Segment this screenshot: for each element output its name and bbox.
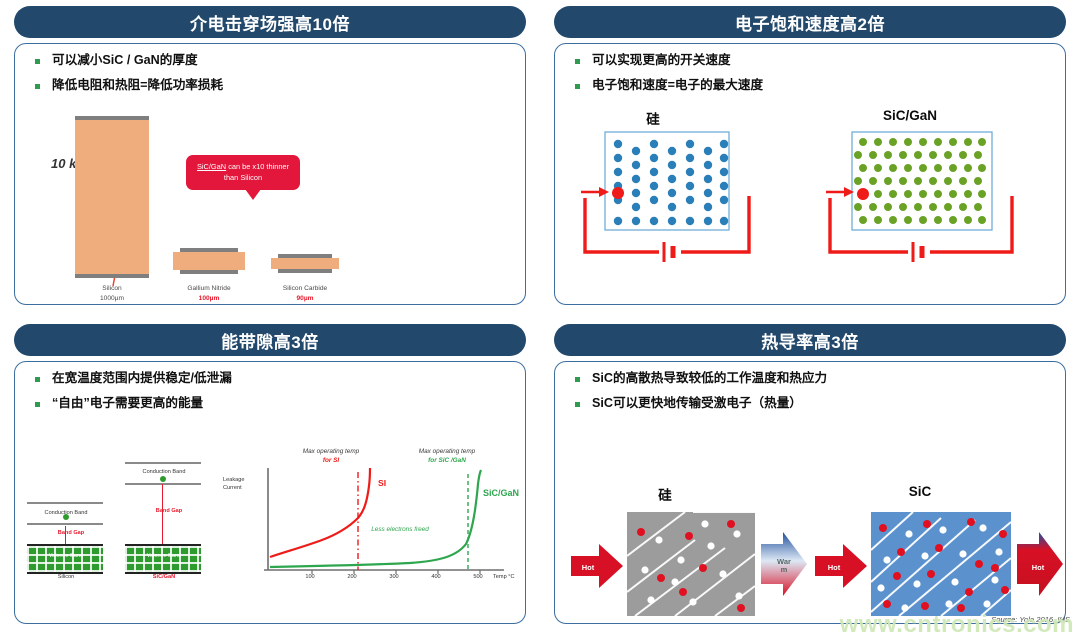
- bullet-item: 在宽温度范围内提供稳定/低泄漏: [31, 371, 525, 385]
- panel-thermal-conductivity: 热导率高3倍 SiC的高散热导致较低的工作温度和热应力 SiC可以更快地传输受激…: [540, 318, 1080, 637]
- material-name-label: SiC/GaN: [131, 574, 197, 580]
- bar-thickness: 90µm: [260, 294, 350, 304]
- bullet-text: 电子饱和速度=电子的最大速度: [592, 78, 763, 92]
- band-edge-line: [125, 462, 201, 464]
- chart-xlabel: Temp °C: [493, 574, 526, 580]
- chart-ylabel-line2: Current: [223, 485, 242, 491]
- bullet-item: SiC可以更快地传输受激电子（热量）: [571, 396, 1065, 410]
- bullet-marker-icon: [35, 377, 40, 382]
- figure-thickness-comparison: 10 kV Silicon 1000µm Gallium N: [15, 108, 525, 304]
- material-label-sicgan: SiC/GaN: [845, 108, 975, 123]
- valence-lattice: [125, 544, 201, 574]
- chart-ylabel-line1: Leakage: [223, 477, 244, 483]
- electrode-bottom-gan: [180, 270, 238, 274]
- valence-lattice: [27, 544, 103, 574]
- caption-gan: Gallium Nitride 100µm: [164, 284, 254, 304]
- heat-out-label-silicon: War m: [773, 558, 795, 574]
- annotation-less-electrons: Less electrons freed: [345, 526, 455, 535]
- annotation-line1: Max operating temp: [303, 448, 359, 455]
- bullet-marker-icon: [575, 402, 580, 407]
- bar-name: Gallium Nitride: [164, 284, 254, 294]
- panel-title-band-gap: 能带隙高3倍: [14, 324, 526, 356]
- bullet-text: 降低电阻和热阻=降低功率损耗: [52, 78, 223, 92]
- electron-dot-icon: [63, 514, 69, 520]
- bullet-marker-icon: [575, 59, 580, 64]
- bullet-marker-icon: [35, 59, 40, 64]
- bullet-list-electron-saturation: 可以实现更高的开关速度 电子饱和速度=电子的最大速度: [555, 44, 1065, 93]
- bar-sic: [271, 258, 339, 269]
- electrode-bottom-silicon: [75, 274, 149, 278]
- bullet-list-band-gap: 在宽温度范围内提供稳定/低泄漏 “自由”电子需要更高的能量: [15, 362, 525, 411]
- material-label-silicon: 硅: [605, 484, 725, 504]
- bar-gan: [173, 252, 245, 270]
- bullet-item: 电子饱和速度=电子的最大速度: [571, 78, 1065, 92]
- quadrant-grid: 介电击穿场强高10倍 可以减小SiC / GaN的厚度 降低电阻和热阻=降低功率…: [0, 0, 1080, 637]
- band-gap-label: Band Gap: [49, 530, 93, 536]
- electrode-bottom-sic: [278, 269, 332, 273]
- series-label-sicgan: SiC/GaN: [483, 488, 519, 498]
- caption-silicon: Silicon 1000µm: [67, 284, 157, 304]
- band-gap-label: Band Gap: [147, 508, 191, 514]
- bar-silicon: [75, 120, 149, 274]
- heat-in-label-sic: Hot: [819, 564, 849, 572]
- material-label-sic: SiC: [855, 484, 985, 499]
- annotation-line1: Max operating temp: [419, 448, 475, 455]
- panel-title-electron-saturation: 电子饱和速度高2倍: [554, 6, 1066, 38]
- bandgap-arrow: [162, 484, 163, 544]
- panel-electron-saturation-velocity: 电子饱和速度高2倍 可以实现更高的开关速度 电子饱和速度=电子的最大速度 硅 S…: [540, 0, 1080, 318]
- panel-breakdown-field: 介电击穿场强高10倍 可以减小SiC / GaN的厚度 降低电阻和热阻=降低功率…: [0, 0, 540, 318]
- annotation-sic-max-temp: Max operating temp for SiC /GaN: [395, 448, 499, 465]
- panel-body-band-gap: 在宽温度范围内提供稳定/低泄漏 “自由”电子需要更高的能量 Conduction…: [14, 361, 526, 624]
- band-edge-line: [27, 523, 103, 525]
- bullet-item: 降低电阻和热阻=降低功率损耗: [31, 78, 525, 92]
- xtick-label: 500: [466, 574, 490, 580]
- panel-band-gap: 能带隙高3倍 在宽温度范围内提供稳定/低泄漏 “自由”电子需要更高的能量 Con…: [0, 318, 540, 637]
- xtick-label: 200: [340, 574, 364, 580]
- bullet-text: 可以减小SiC / GaN的厚度: [52, 53, 198, 67]
- caption-sic: Silicon Carbide 90µm: [260, 284, 350, 304]
- callout-bubble: SiC/GaN can be x10 thinner than Silicon: [186, 155, 300, 190]
- xtick-label: 100: [298, 574, 322, 580]
- bullet-marker-icon: [35, 402, 40, 407]
- circuit-silicon: [563, 130, 823, 290]
- conduction-band-label: Conduction Band: [131, 469, 197, 475]
- circuit-sicgan: [810, 130, 1066, 290]
- bar-thickness: 100µm: [164, 294, 254, 304]
- electron-dot-icon: [160, 476, 166, 482]
- series-label-si: SI: [378, 478, 386, 488]
- bullet-item: SiC的高散热导致较低的工作温度和热应力: [571, 371, 1065, 385]
- figure-carrier-transit: 硅 SiC/GaN: [555, 108, 1065, 304]
- heat-in-label-silicon: Hot: [573, 564, 603, 572]
- bullet-marker-icon: [575, 377, 580, 382]
- material-name-label: Silicon: [33, 574, 99, 580]
- bullet-text: 可以实现更高的开关速度: [592, 53, 731, 67]
- bar-name: Silicon Carbide: [260, 284, 350, 294]
- panel-body-breakdown-field: 可以减小SiC / GaN的厚度 降低电阻和热阻=降低功率损耗 10 kV: [14, 43, 526, 305]
- panel-title-thermal-conductivity: 热导率高3倍: [554, 324, 1066, 356]
- bullet-list-breakdown-field: 可以减小SiC / GaN的厚度 降低电阻和热阻=降低功率损耗: [15, 44, 525, 93]
- bullet-text: SiC可以更快地传输受激电子（热量）: [592, 396, 802, 410]
- site-watermark: www.cntronics.com: [840, 611, 1074, 639]
- chart-ylabel: Leakage Current: [223, 476, 259, 493]
- valence-band-label: Valence Band: [33, 553, 99, 559]
- figure-bandgap-and-leakage: Conduction Band Band Gap Valence Band Si…: [15, 426, 525, 623]
- bullet-item: 可以减小SiC / GaN的厚度: [31, 53, 525, 67]
- callout-underlined-text: SiC/GaN: [197, 162, 226, 171]
- bullet-item: 可以实现更高的开关速度: [571, 53, 1065, 67]
- bullet-item: “自由”电子需要更高的能量: [31, 396, 525, 410]
- bar-thickness: 1000µm: [67, 294, 157, 304]
- bullet-text: SiC的高散热导致较低的工作温度和热应力: [592, 371, 827, 385]
- figure-heat-flow: 硅 SiC: [555, 426, 1065, 623]
- xtick-label: 400: [424, 574, 448, 580]
- bullet-text: 在宽温度范围内提供稳定/低泄漏: [52, 371, 232, 385]
- valence-band-label: Valence Band: [131, 553, 197, 559]
- xtick-label: 300: [382, 574, 406, 580]
- bullet-marker-icon: [575, 84, 580, 89]
- panel-title-breakdown-field: 介电击穿场强高10倍: [14, 6, 526, 38]
- band-edge-line: [27, 502, 103, 504]
- annotation-line2: for SiC /GaN: [428, 457, 466, 464]
- annotation-si-max-temp: Max operating temp for SI: [283, 448, 379, 465]
- bullet-marker-icon: [35, 84, 40, 89]
- panel-body-electron-saturation: 可以实现更高的开关速度 电子饱和速度=电子的最大速度 硅 SiC/GaN: [554, 43, 1066, 305]
- bar-name: Silicon: [67, 284, 157, 294]
- heat-out-label-sic: Hot: [1025, 564, 1051, 572]
- panel-body-thermal-conductivity: SiC的高散热导致较低的工作温度和热应力 SiC可以更快地传输受激电子（热量） …: [554, 361, 1066, 624]
- material-label-silicon: 硅: [593, 108, 713, 128]
- bullet-list-thermal: SiC的高散热导致较低的工作温度和热应力 SiC可以更快地传输受激电子（热量）: [555, 362, 1065, 411]
- bullet-text: “自由”电子需要更高的能量: [52, 396, 203, 410]
- annotation-line2: for SI: [323, 457, 339, 464]
